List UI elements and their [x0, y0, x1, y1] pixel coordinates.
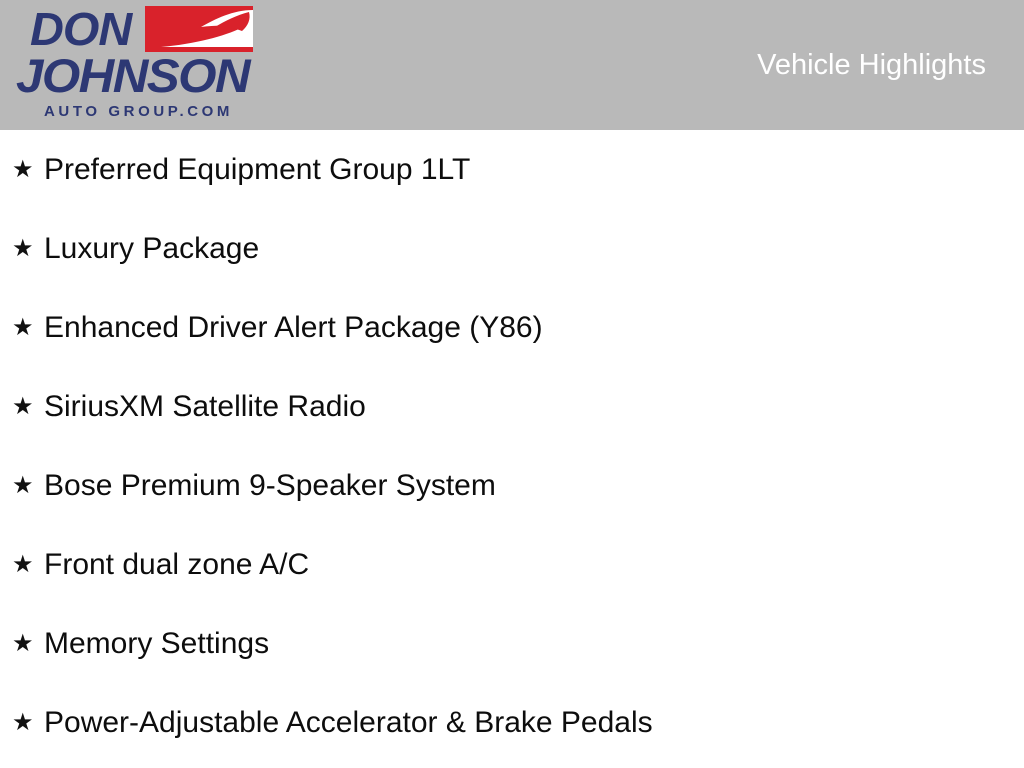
highlight-label: Luxury Package: [44, 232, 259, 266]
logo-text-don: DON: [30, 6, 131, 52]
star-bullet-icon: ★: [12, 632, 44, 656]
star-bullet-icon: ★: [12, 237, 44, 261]
list-item: ★Power-Adjustable Accelerator & Brake Pe…: [0, 683, 1024, 762]
highlight-label: Bose Premium 9-Speaker System: [44, 469, 496, 503]
dealer-logo[interactable]: DON JOHNSON AUTO GROUP.COM: [14, 4, 260, 126]
highlight-label: Enhanced Driver Alert Package (Y86): [44, 311, 543, 345]
list-item: ★Bose Premium 9-Speaker System: [0, 446, 1024, 525]
list-item: ★Preferred Equipment Group 1LT: [0, 130, 1024, 209]
star-bullet-icon: ★: [12, 395, 44, 419]
logo-swoosh-badge: [145, 6, 253, 52]
list-item: ★SiriusXM Satellite Radio: [0, 367, 1024, 446]
logo-text-johnson: JOHNSON: [16, 52, 249, 99]
list-item: ★Enhanced Driver Alert Package (Y86): [0, 288, 1024, 367]
highlight-label: Power-Adjustable Accelerator & Brake Ped…: [44, 706, 653, 740]
star-bullet-icon: ★: [12, 316, 44, 340]
highlight-label: Front dual zone A/C: [44, 548, 309, 582]
list-item: ★Memory Settings: [0, 604, 1024, 683]
swoosh-icon: [145, 6, 253, 52]
vehicle-highlights-list: ★Preferred Equipment Group 1LT★Luxury Pa…: [0, 130, 1024, 768]
star-bullet-icon: ★: [12, 474, 44, 498]
list-item: ★Front dual zone A/C: [0, 525, 1024, 604]
list-item: ★Luxury Package: [0, 209, 1024, 288]
page-header: DON JOHNSON AUTO GROUP.COM Vehicle Highl…: [0, 0, 1024, 130]
highlight-label: Memory Settings: [44, 627, 269, 661]
star-bullet-icon: ★: [12, 711, 44, 735]
star-bullet-icon: ★: [12, 158, 44, 182]
page-title: Vehicle Highlights: [757, 48, 986, 82]
star-bullet-icon: ★: [12, 553, 44, 577]
highlight-label: Preferred Equipment Group 1LT: [44, 153, 470, 187]
highlight-label: SiriusXM Satellite Radio: [44, 390, 366, 424]
logo-text-auto-group: AUTO GROUP.COM: [44, 104, 233, 119]
